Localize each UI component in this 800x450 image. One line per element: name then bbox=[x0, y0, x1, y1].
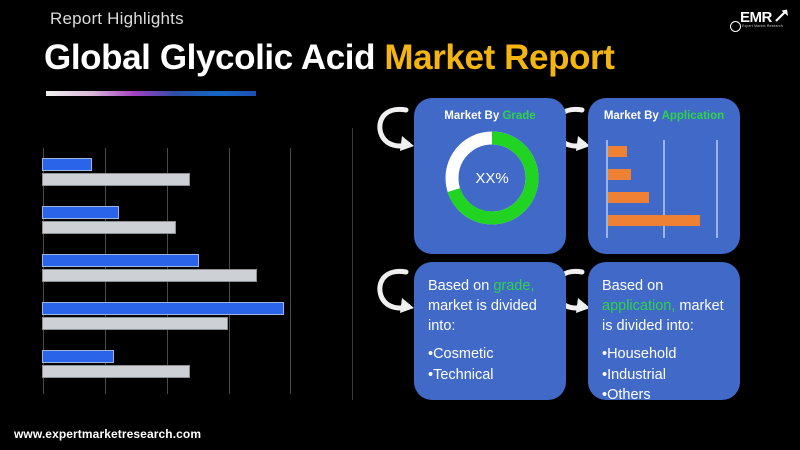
bar-blue bbox=[42, 350, 114, 363]
emr-logo: EMR Expert Market Research bbox=[730, 8, 792, 36]
gridline bbox=[716, 140, 718, 238]
page-title-main: Global Glycolic Acid bbox=[44, 38, 384, 77]
panel-grade-title: Market By Grade bbox=[414, 110, 566, 122]
bar-blue bbox=[42, 254, 199, 267]
curved-arrow-icon bbox=[374, 262, 418, 322]
donut-chart: XX% bbox=[440, 126, 544, 230]
bar-orange bbox=[608, 215, 700, 226]
panel-app-title: Market By Application bbox=[588, 110, 740, 122]
panel-app-title-highlight: Application bbox=[662, 110, 725, 122]
panel-grade-list: •Cosmetic •Technical bbox=[428, 344, 558, 385]
panel-grade-description: Based on grade, market is divided into: … bbox=[414, 262, 566, 400]
application-bar-chart bbox=[606, 140, 726, 238]
page-title-accent: Market Report bbox=[384, 38, 614, 77]
panel-app-list: •Household •Industrial •Others bbox=[602, 344, 732, 406]
left-bar-chart bbox=[42, 148, 294, 394]
panel-app-body: Based on application, market is divided … bbox=[602, 276, 732, 336]
grade-body-highlight: grade, bbox=[493, 278, 534, 294]
eyebrow-text: Report Highlights bbox=[50, 9, 184, 29]
grade-body-rest: market is divided into: bbox=[428, 298, 537, 334]
bar-blue bbox=[42, 206, 119, 219]
panel-grade-title-prefix: Market By bbox=[444, 110, 502, 122]
section-divider bbox=[352, 128, 353, 400]
bar-orange bbox=[608, 192, 649, 203]
curved-arrow-icon bbox=[374, 100, 418, 160]
bar-blue bbox=[42, 158, 92, 171]
app-body-highlight: application, bbox=[602, 298, 675, 314]
bar-orange bbox=[608, 169, 631, 180]
title-underline-gradient bbox=[46, 91, 256, 96]
donut-center-label: XX% bbox=[440, 170, 544, 187]
panel-grade-body: Based on grade, market is divided into: bbox=[428, 276, 558, 336]
bar-gray bbox=[42, 317, 228, 330]
list-item: •Household bbox=[602, 344, 732, 365]
list-item: •Cosmetic bbox=[428, 344, 558, 365]
panel-app-title-prefix: Market By bbox=[604, 110, 662, 122]
bar-gray bbox=[42, 221, 176, 234]
bar-gray bbox=[42, 365, 190, 378]
panel-market-by-grade: Market By Grade XX% bbox=[414, 98, 566, 254]
panel-application-description: Based on application, market is divided … bbox=[588, 262, 740, 400]
list-item: •Others bbox=[602, 385, 732, 406]
panel-market-by-application: Market By Application bbox=[588, 98, 740, 254]
gridline bbox=[290, 148, 291, 394]
grade-body-prefix: Based on bbox=[428, 278, 493, 294]
bar-gray bbox=[42, 269, 257, 282]
page-title: Global Glycolic Acid Market Report bbox=[44, 38, 615, 78]
bar-orange bbox=[608, 146, 627, 157]
logo-up-arrow-icon bbox=[774, 8, 790, 24]
slide-canvas: Report Highlights Global Glycolic Acid M… bbox=[0, 0, 800, 450]
panel-grade-title-highlight: Grade bbox=[502, 110, 535, 122]
logo-tagline: Expert Market Research bbox=[742, 24, 783, 28]
app-body-prefix: Based on bbox=[602, 278, 663, 294]
footer-url[interactable]: www.expertmarketresearch.com bbox=[14, 427, 201, 441]
list-item: •Technical bbox=[428, 365, 558, 386]
bar-blue bbox=[42, 302, 284, 315]
list-item: •Industrial bbox=[602, 365, 732, 386]
bar-gray bbox=[42, 173, 190, 186]
